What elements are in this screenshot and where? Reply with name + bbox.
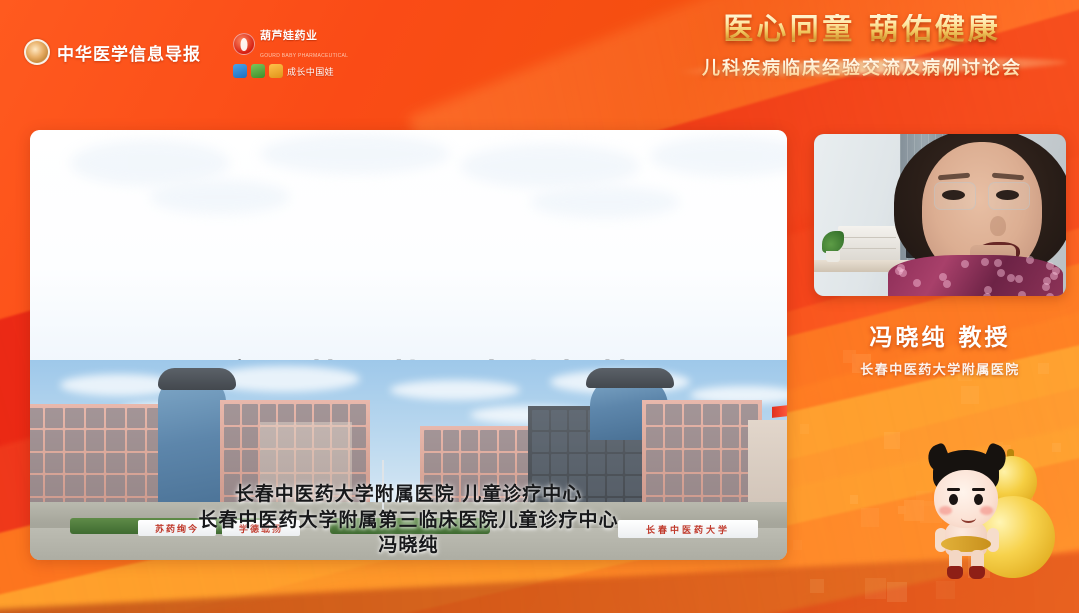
mascot-leaf-skirt	[941, 536, 991, 552]
sponsor-name: 葫芦娃药业	[260, 30, 318, 42]
event-banner: 医心冋童 葫佑健康 儿科疾病临床经验交流及病例讨论会	[667, 14, 1057, 80]
chip-amber-icon	[269, 64, 283, 78]
calabash-boy-mascot	[915, 436, 1065, 596]
slide-subtitle-block: 长春中医药大学附属医院 儿童诊疗中心 长春中医药大学附属第三临床医院儿童诊疗中心…	[30, 482, 787, 560]
medical-seal-icon	[24, 39, 50, 65]
sponsor-tagline: 成长中国娃	[287, 65, 334, 78]
slide-subtitle-line-1: 长春中医药大学附属医院 儿童诊疗中心	[30, 482, 787, 508]
logo-chinese-medical-association[interactable]: 中华医学信息导报	[24, 39, 201, 65]
mascot-boot-left	[947, 566, 963, 579]
building-tower-cap-right	[586, 368, 674, 388]
sponsor-chip-row: 成长中国娃	[233, 64, 348, 78]
slide-subtitle-line-3: 冯晓纯	[30, 533, 787, 559]
chip-blue-icon	[233, 64, 247, 78]
video-plant	[820, 232, 846, 262]
logo-primary-text: 中华医学信息导报	[57, 40, 201, 65]
speaker-video-feed[interactable]	[814, 134, 1066, 296]
mascot-face	[934, 470, 998, 528]
logo-sponsor[interactable]: 葫芦娃药业 GOURD BABY PHARMACEUTICAL 成长中国娃	[233, 26, 348, 78]
sponsor-latin-name: GOURD BABY PHARMACEUTICAL	[260, 53, 348, 59]
sponsor-text-block: 葫芦娃药业 GOURD BABY PHARMACEUTICAL	[260, 26, 348, 62]
building-tower-cap-left	[158, 368, 236, 390]
chip-green-icon	[251, 64, 265, 78]
presentation-slide[interactable]: 儿童用药现状及未来趋势	[30, 130, 787, 560]
speaker-name: 冯晓纯 教授	[800, 318, 1079, 352]
mascot-character	[921, 450, 1013, 582]
event-title: 医心冋童 葫佑健康	[667, 14, 1057, 46]
sponsor-main-row: 葫芦娃药业 GOURD BABY PHARMACEUTICAL	[233, 26, 348, 62]
photo-flag-icon	[772, 405, 787, 418]
event-subtitle: 儿科疾病临床经验交流及病例讨论会	[667, 54, 1057, 80]
slide-subtitle-line-2: 长春中医药大学附属第三临床医院儿童诊疗中心	[30, 508, 787, 534]
speaker-caption: 冯晓纯 教授 长春中医药大学附属医院	[800, 318, 1079, 378]
portrait-shirt	[888, 255, 1063, 296]
video-speaker-portrait	[888, 134, 1066, 296]
broadcast-stage: 中华医学信息导报 葫芦娃药业 GOURD BABY PHARMACEUTICAL…	[0, 0, 1079, 613]
gourd-flame-icon	[233, 33, 255, 55]
slide-subtitle-line-4: 2023.6.21	[30, 559, 787, 560]
slide-cloud-decoration	[30, 130, 787, 250]
header-logos: 中华医学信息导报 葫芦娃药业 GOURD BABY PHARMACEUTICAL…	[24, 26, 348, 78]
mascot-boot-right	[969, 566, 985, 579]
speaker-organization: 长春中医药大学附属医院	[800, 359, 1079, 378]
